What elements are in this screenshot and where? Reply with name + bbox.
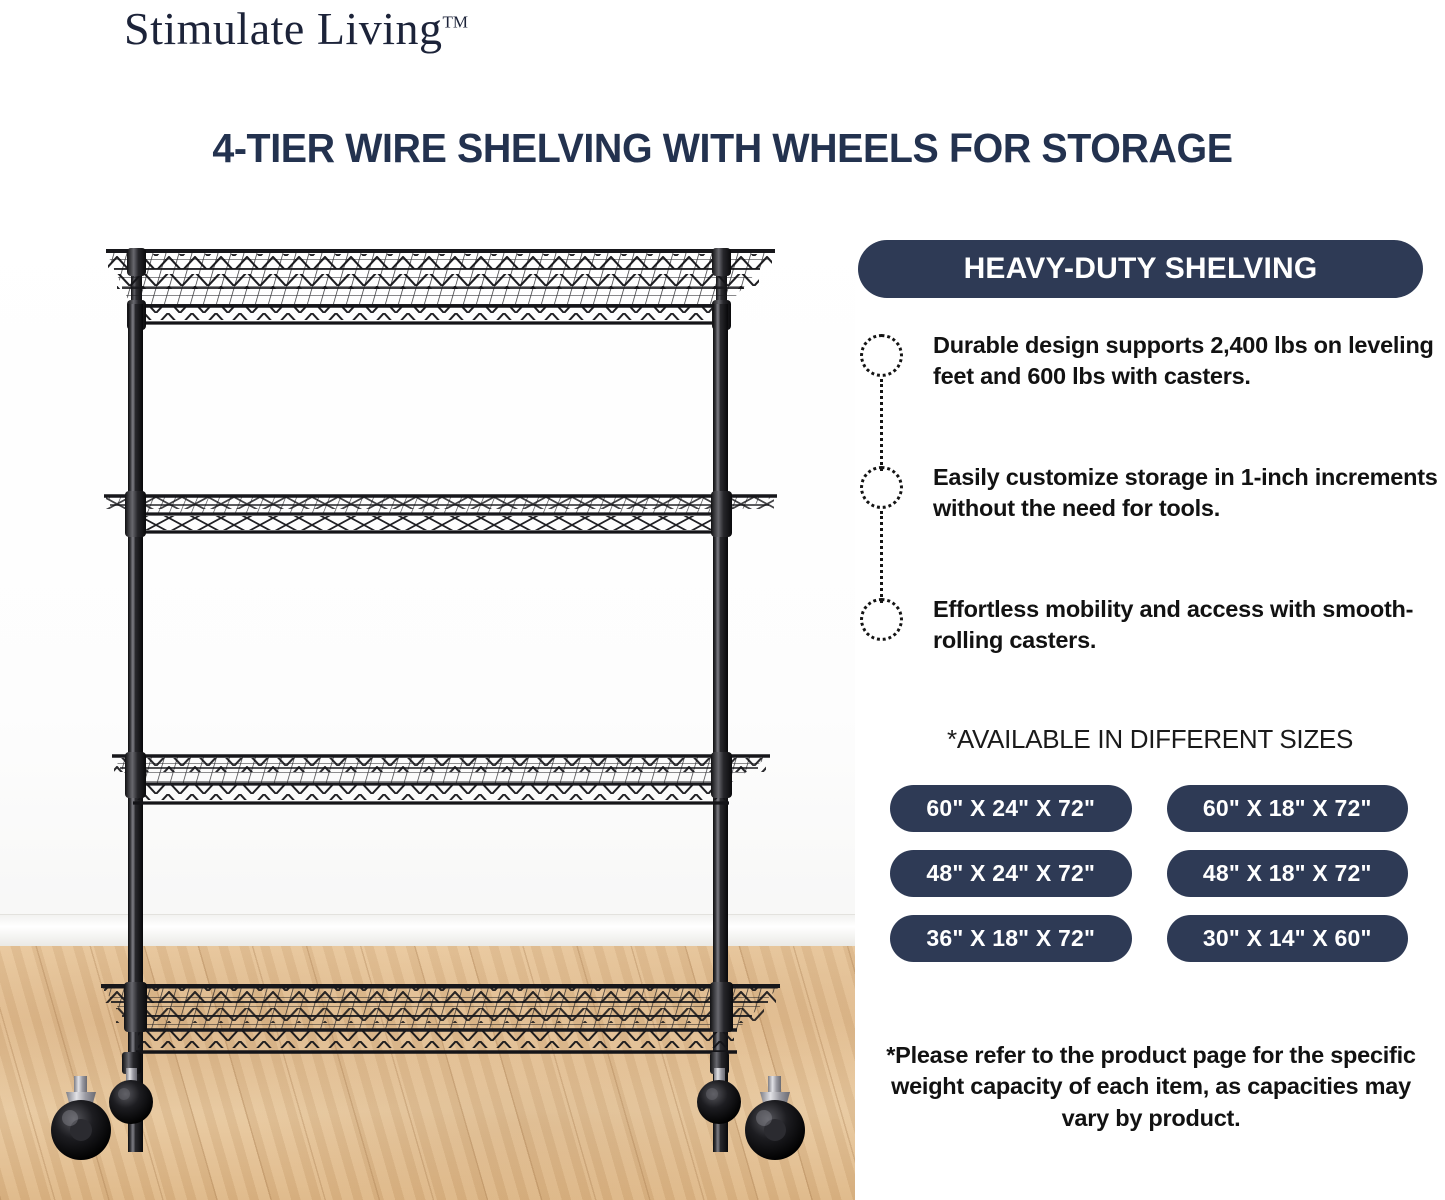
- info-panel: HEAVY-DUTY SHELVING Durable design suppo…: [855, 0, 1445, 1200]
- bullet-marker-2: [840, 462, 926, 532]
- shelf-tier-4: [101, 982, 780, 1054]
- feature-bullet-3: Effortless mobility and access with smoo…: [855, 594, 1445, 664]
- dotted-line-icon: [880, 379, 883, 471]
- feature-bullet-2-text: Easily customize storage in 1-inch incre…: [933, 462, 1445, 524]
- capacity-disclaimer: *Please refer to the product page for th…: [873, 1040, 1429, 1134]
- size-option-pill[interactable]: 48" X 18" X 72": [1167, 850, 1409, 897]
- caster-back-left: [109, 1052, 153, 1124]
- size-option-pill[interactable]: 36" X 18" X 72": [890, 915, 1132, 962]
- brand-name: Stimulate Living: [124, 3, 442, 54]
- bullet-marker-3: [840, 594, 926, 664]
- available-sizes-heading: *AVAILABLE IN DIFFERENT SIZES: [855, 724, 1445, 755]
- shelf-tier-1: [106, 248, 775, 330]
- bullet-marker-1: [840, 330, 926, 400]
- size-option-pill[interactable]: 60" X 18" X 72": [1167, 785, 1409, 832]
- size-options-grid: 60" X 24" X 72" 60" X 18" X 72" 48" X 24…: [890, 785, 1408, 962]
- dotted-circle-icon: [860, 598, 903, 641]
- product-image: [0, 196, 855, 1200]
- trademark-symbol: TM: [442, 13, 468, 32]
- caster-front-right: [745, 1076, 805, 1160]
- feature-bullet-1: Durable design supports 2,400 lbs on lev…: [855, 330, 1445, 400]
- size-option-pill[interactable]: 60" X 24" X 72": [890, 785, 1132, 832]
- dotted-circle-icon: [860, 334, 903, 377]
- feature-bullet-list: Durable design supports 2,400 lbs on lev…: [855, 330, 1445, 664]
- caster-back-right: [697, 1052, 741, 1124]
- section-header-label: HEAVY-DUTY SHELVING: [964, 252, 1318, 286]
- shelf-tier-2: [104, 491, 777, 537]
- feature-bullet-3-text: Effortless mobility and access with smoo…: [933, 594, 1445, 656]
- size-option-pill[interactable]: 48" X 24" X 72": [890, 850, 1132, 897]
- wire-shelving-unit: [0, 196, 855, 1200]
- feature-bullet-1-text: Durable design supports 2,400 lbs on lev…: [933, 330, 1445, 392]
- dotted-circle-icon: [860, 466, 903, 509]
- shelf-tier-3: [112, 752, 770, 804]
- size-option-pill[interactable]: 30" X 14" X 60": [1167, 915, 1409, 962]
- dotted-line-icon: [880, 511, 883, 603]
- brand-logo: Stimulate LivingTM: [124, 2, 468, 55]
- section-header-heavy-duty: HEAVY-DUTY SHELVING: [858, 240, 1423, 298]
- caster-front-left: [51, 1076, 111, 1160]
- feature-bullet-2: Easily customize storage in 1-inch incre…: [855, 462, 1445, 532]
